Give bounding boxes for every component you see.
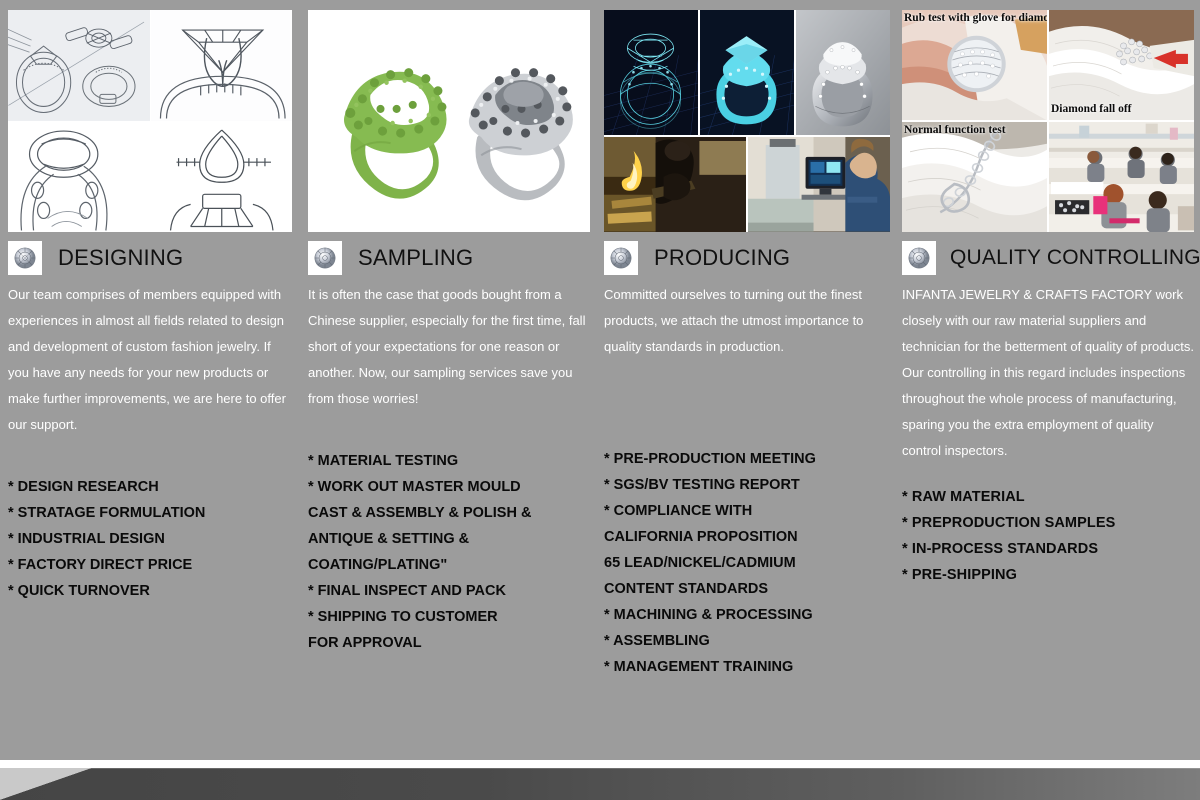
producing-bullet-list: * PRE-PRODUCTION MEETING * SGS/BV TESTIN… [604,446,890,680]
sampling-media-panel [308,10,590,232]
list-item: * INDUSTRIAL DESIGN [8,526,292,552]
footer-corner-notch [0,768,92,800]
designing-paragraph: Our team comprises of members equipped w… [8,282,292,438]
sampling-title: SAMPLING [358,245,473,271]
workshop-photo-row [604,137,890,232]
cad-workstation-photo [748,137,890,232]
footer-highlight [0,768,1200,769]
normal-function-test-photo: Normal function test [902,122,1047,232]
producing-media-panel [604,10,890,232]
designing-title: DESIGNING [58,245,183,271]
list-item: * WORK OUT MASTER MOULD [308,474,590,500]
solitaire-prong-sketch [151,10,293,121]
cad-shaded-ring [700,10,794,135]
process-columns: DESIGNING Our team comprises of members … [0,0,1200,760]
list-item: * RAW MATERIAL [902,484,1194,510]
rub-test-caption: Rub test with glove for diamond [904,12,1047,25]
list-item: * PRE-SHIPPING [902,562,1194,588]
list-item: CALIFORNIA PROPOSITION [604,524,890,550]
column-designing: DESIGNING Our team comprises of members … [0,0,300,760]
list-item: * FACTORY DIRECT PRICE [8,552,292,578]
list-item: CONTENT STANDARDS [604,576,890,602]
list-item: * PRE-PRODUCTION MEETING [604,446,890,472]
quality-title: QUALITY CONTROLLING [950,246,1200,270]
oval-halo-ring-sketch [8,122,150,233]
ring-exploded-sketch [8,10,150,121]
list-item: * SGS/BV TESTING REPORT [604,472,890,498]
designing-bullet-list: * DESIGN RESEARCH * STRATAGE FORMULATION… [8,474,292,604]
cad-wireframe-ring [604,10,698,135]
list-item: COATING/PLATING" [308,552,590,578]
footer-divider [0,760,1200,768]
pear-and-cushion-sketch [151,122,293,233]
casting-furnace-photo [604,137,746,232]
quality-heading: QUALITY CONTROLLING [902,241,1194,275]
diamond-icon [902,241,936,275]
producing-title: PRODUCING [654,245,790,271]
list-item: * SHIPPING TO CUSTOMER [308,604,590,630]
list-item: 65 LEAD/NICKEL/CADMIUM [604,550,890,576]
designing-media-panel [8,10,292,232]
list-item: * FINAL INSPECT AND PACK [308,578,590,604]
sampling-paragraph: It is often the case that goods bought f… [308,282,590,412]
normal-function-test-caption: Normal function test [904,124,1006,137]
list-item: FOR APPROVAL [308,630,590,656]
qc-photo-grid: Rub test with glove for diamond [902,10,1194,232]
diamond-fall-off-photo: Diamond fall off [1049,10,1194,120]
cad-render-row [604,10,890,135]
list-item: * PREPRODUCTION SAMPLES [902,510,1194,536]
sampling-bullet-list: * MATERIAL TESTING * WORK OUT MASTER MOU… [308,448,590,656]
page-root: DESIGNING Our team comprises of members … [0,0,1200,800]
diamond-icon [604,241,638,275]
diamond-fall-off-caption: Diamond fall off [1051,103,1132,116]
sampling-heading: SAMPLING [308,241,590,275]
list-item: * IN-PROCESS STANDARDS [902,536,1194,562]
list-item: * COMPLIANCE WITH [604,498,890,524]
quality-bullet-list: * RAW MATERIAL * PREPRODUCTION SAMPLES *… [902,484,1194,588]
column-quality-controlling: Rub test with glove for diamond [896,0,1200,760]
diamond-icon [308,241,342,275]
rub-test-photo: Rub test with glove for diamond [902,10,1047,120]
footer-bar [0,768,1200,800]
list-item: * MACHINING & PROCESSING [604,602,890,628]
quality-media-panel: Rub test with glove for diamond [902,10,1194,232]
column-producing: PRODUCING Committed ourselves to turning… [598,0,896,760]
producing-heading: PRODUCING [604,241,890,275]
column-sampling: SAMPLING It is often the case that goods… [300,0,598,760]
cad-silver-render-ring [796,10,890,135]
list-item: * QUICK TURNOVER [8,578,292,604]
inspection-workroom-photo [1049,122,1194,232]
two-rings-photo [308,10,590,232]
sketch-grid [8,10,292,232]
diamond-icon [8,241,42,275]
list-item: * MATERIAL TESTING [308,448,590,474]
list-item: ANTIQUE & SETTING & [308,526,590,552]
list-item: * MANAGEMENT TRAINING [604,654,890,680]
list-item: CAST & ASSEMBLY & POLISH & [308,500,590,526]
quality-paragraph: INFANTA JEWELRY & CRAFTS FACTORY work cl… [902,282,1194,464]
designing-heading: DESIGNING [8,241,292,275]
list-item: * ASSEMBLING [604,628,890,654]
producing-paragraph: Committed ourselves to turning out the f… [604,282,890,360]
list-item: * DESIGN RESEARCH [8,474,292,500]
list-item: * STRATAGE FORMULATION [8,500,292,526]
